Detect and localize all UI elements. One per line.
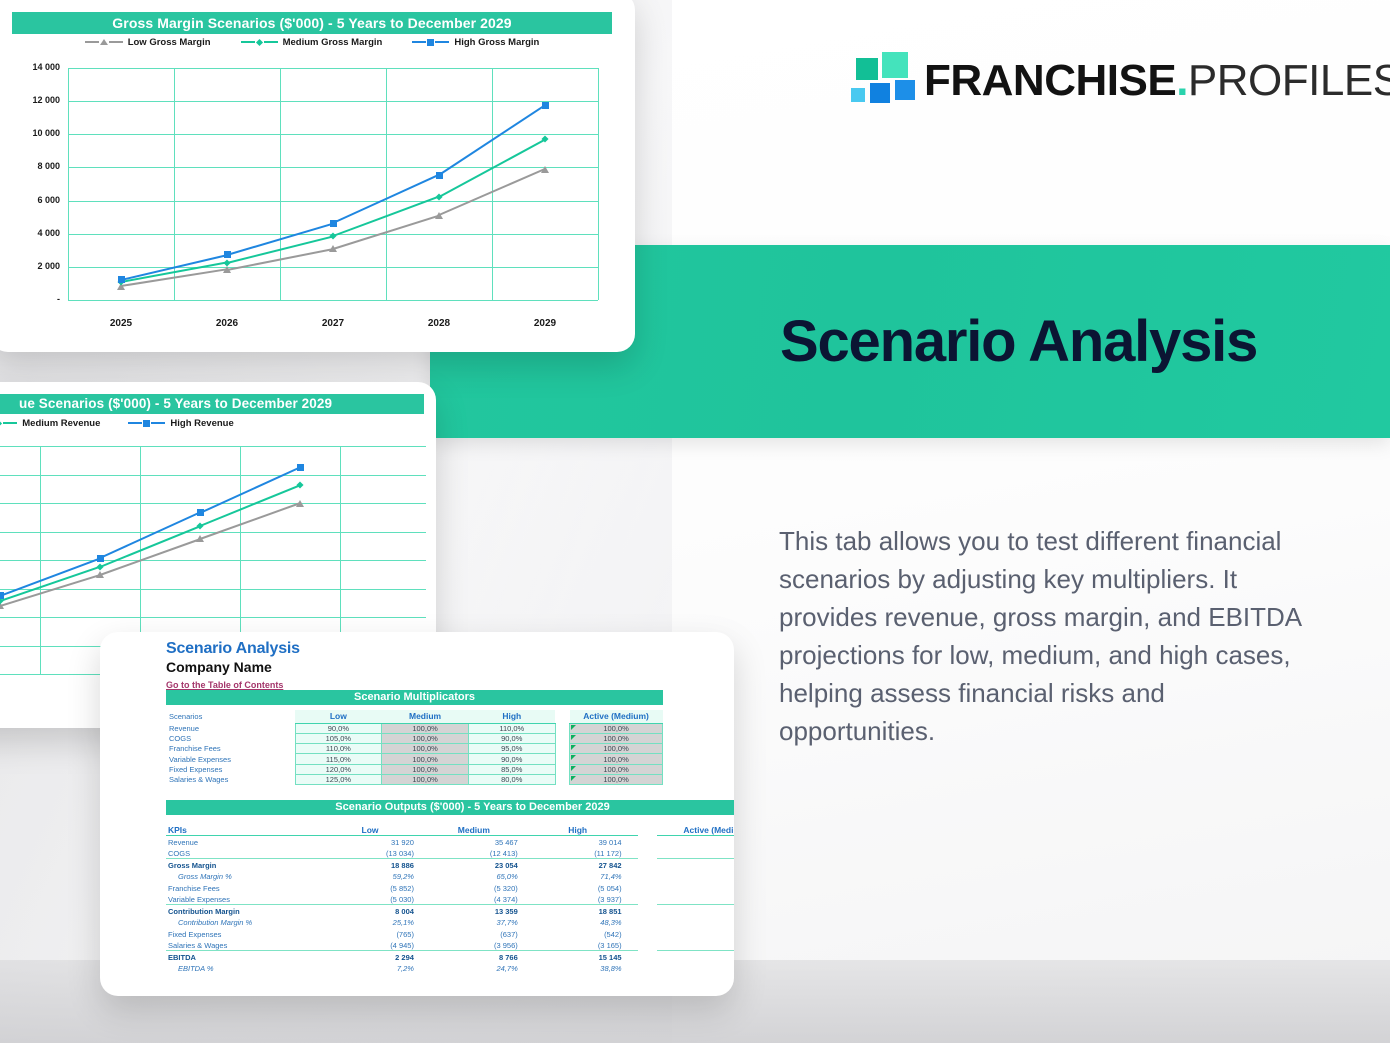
output-cell-high: (5 054): [534, 881, 638, 893]
x-axis-tick-label: 2026: [174, 318, 280, 329]
square-marker-icon: [427, 39, 434, 46]
column-header-high: High: [534, 822, 638, 835]
table-row: Franchise Fees110,0%100,0%95,0%100,0%: [166, 744, 663, 754]
column-gap: [555, 723, 569, 733]
output-cell-medium: (5 320): [430, 881, 534, 893]
gridline-horizontal: [0, 446, 426, 447]
multiplicator-cell-high[interactable]: 90,0%: [468, 733, 555, 743]
kpi-label: Contribution Margin %: [166, 916, 326, 928]
triangle-marker-icon: [435, 212, 443, 219]
output-cell-low: 31 920: [326, 835, 430, 847]
sheet-header: Scenario Analysis Company Name Go to the…: [166, 640, 300, 693]
square-marker-icon: [197, 509, 204, 516]
output-cell-active: 8 766: [657, 950, 734, 962]
legend-item-medium-revenue: Medium Revenue: [0, 418, 100, 429]
column-header-low: Low: [295, 710, 382, 723]
y-axis-tick-label: 4 000: [0, 228, 60, 238]
scenario-outputs-band: Scenario Outputs ($'000) - 5 Years to De…: [166, 800, 734, 815]
legend-line-icon: [435, 41, 449, 43]
page-title: Scenario Analysis: [780, 308, 1257, 375]
table-row: Gross Margin %59,2%65,0%71,4%65,0%: [166, 870, 734, 882]
column-gap: [638, 904, 658, 916]
gridline-horizontal: [0, 560, 426, 561]
gridline-vertical: [280, 68, 281, 300]
output-cell-medium: (3 956): [430, 939, 534, 951]
square-marker-icon: [118, 276, 125, 283]
column-gap: [555, 733, 569, 743]
output-cell-low: (765): [326, 927, 430, 939]
logo-word-secondary: PROFILES: [1188, 56, 1390, 105]
output-cell-high: 39 014: [534, 835, 638, 847]
legend-item-high-gross-margin: High Gross Margin: [412, 37, 539, 48]
y-axis-tick-label: 10 000: [0, 128, 60, 138]
output-cell-high: 38,8%: [534, 962, 638, 974]
multiplicator-cell-low[interactable]: 105,0%: [295, 733, 382, 743]
column-gap: [555, 754, 569, 764]
scenario-multiplicators-table: ScenariosLowMediumHighActive (Medium)Rev…: [166, 710, 663, 785]
kpi-label: Gross Margin: [166, 858, 326, 870]
table-row: Contribution Margin %25,1%37,7%48,3%37,7…: [166, 916, 734, 928]
row-label: Salaries & Wages: [166, 774, 295, 784]
legend-line-icon: [264, 41, 278, 43]
triangle-marker-icon: [329, 245, 337, 252]
diamond-marker-icon: [296, 482, 303, 489]
scenarios-row-header: Scenarios: [166, 710, 295, 723]
column-header-medium: Medium: [430, 822, 534, 835]
kpi-label: Fixed Expenses: [166, 927, 326, 939]
gross-margin-chart-legend: Low Gross Margin Medium Gross Margin Hig…: [12, 32, 612, 52]
square-marker-icon: [0, 592, 4, 599]
multiplicator-cell-active[interactable]: 100,0%: [570, 754, 663, 764]
table-row: COGS105,0%100,0%90,0%100,0%: [166, 733, 663, 743]
output-cell-low: 18 886: [326, 858, 430, 870]
column-header-medium: Medium: [382, 710, 469, 723]
legend-line-icon: [151, 422, 165, 424]
output-cell-low: (5 030): [326, 893, 430, 905]
multiplicator-cell-high[interactable]: 110,0%: [468, 723, 555, 733]
multiplicator-cell-low[interactable]: 120,0%: [295, 764, 382, 774]
logo-squares-icon: [848, 52, 906, 110]
x-axis-tick-label: 2027: [280, 318, 386, 329]
gridline-horizontal: [0, 503, 426, 504]
legend-line-icon: [128, 422, 142, 424]
multiplicator-cell-high[interactable]: 90,0%: [468, 754, 555, 764]
triangle-marker-icon: [196, 535, 204, 542]
row-label: Fixed Expenses: [166, 764, 295, 774]
output-cell-medium: 37,7%: [430, 916, 534, 928]
kpi-label: Salaries & Wages: [166, 939, 326, 951]
table-row: EBITDA2 2948 76615 1458 766: [166, 950, 734, 962]
column-gap: [638, 870, 658, 882]
kpi-label: Contribution Margin: [166, 904, 326, 916]
gross-margin-chart-title: Gross Margin Scenarios ($'000) - 5 Years…: [12, 12, 612, 34]
output-cell-active: 13 359: [657, 904, 734, 916]
output-cell-active: (3 956): [657, 939, 734, 951]
y-axis-tick-label: 8 000: [0, 161, 60, 171]
output-cell-medium: (12 413): [430, 847, 534, 859]
series-line-segment: [0, 566, 100, 602]
multiplicator-cell-low[interactable]: 125,0%: [295, 774, 382, 784]
output-cell-active: 35 467: [657, 835, 734, 847]
output-cell-active: 23 054: [657, 858, 734, 870]
output-cell-low: 8 004: [326, 904, 430, 916]
column-gap: [638, 835, 658, 847]
output-cell-medium: 8 766: [430, 950, 534, 962]
gridline-horizontal: [68, 267, 598, 268]
square-marker-icon: [330, 220, 337, 227]
gross-margin-chart-card: Gross Margin Scenarios ($'000) - 5 Years…: [0, 0, 635, 352]
column-gap: [638, 847, 658, 859]
multiplicator-cell-medium[interactable]: 100,0%: [382, 733, 469, 743]
y-axis-tick-label: -: [0, 294, 60, 304]
output-cell-active: (5 320): [657, 881, 734, 893]
legend-label: Medium Revenue: [22, 418, 100, 429]
legend-item-low-gross-margin: Low Gross Margin: [85, 37, 211, 48]
column-gap: [638, 939, 658, 951]
multiplicator-cell-high[interactable]: 80,0%: [468, 774, 555, 784]
x-axis-tick-label: 2025: [68, 318, 174, 329]
multiplicator-cell-high[interactable]: 95,0%: [468, 744, 555, 754]
output-cell-active: 37,7%: [657, 916, 734, 928]
kpi-label: Variable Expenses: [166, 893, 326, 905]
output-cell-high: 18 851: [534, 904, 638, 916]
triangle-marker-icon: [223, 266, 231, 273]
output-cell-high: (11 172): [534, 847, 638, 859]
table-row: Franchise Fees(5 852)(5 320)(5 054)(5 32…: [166, 881, 734, 893]
row-label: Revenue: [166, 723, 295, 733]
gridline-horizontal: [68, 300, 598, 301]
scenario-analysis-sheet-card: Scenario Analysis Company Name Go to the…: [100, 632, 734, 996]
row-label: Variable Expenses: [166, 754, 295, 764]
output-cell-medium: (637): [430, 927, 534, 939]
output-cell-low: 7,2%: [326, 962, 430, 974]
gridline-horizontal: [68, 101, 598, 102]
table-row: EBITDA %7,2%24,7%38,8%24,7%: [166, 962, 734, 974]
multiplicator-cell-medium[interactable]: 100,0%: [382, 744, 469, 754]
kpi-label: Gross Margin %: [166, 870, 326, 882]
multiplicator-cell-medium[interactable]: 100,0%: [382, 723, 469, 733]
table-header-row: ScenariosLowMediumHighActive (Medium): [166, 710, 663, 723]
column-gap: [638, 893, 658, 905]
multiplicator-cell-active[interactable]: 100,0%: [570, 774, 663, 784]
column-gap: [638, 927, 658, 939]
kpis-row-header: KPIs: [166, 822, 326, 835]
comment-flag-icon: [571, 776, 576, 781]
column-header-active: Active (Medium): [657, 822, 734, 835]
revenue-chart-title: ue Scenarios ($'000) - 5 Years to Decemb…: [0, 394, 424, 414]
column-gap: [555, 774, 569, 784]
brand-logo: FRANCHISE.PROFILES: [848, 50, 1390, 112]
table-of-contents-link[interactable]: Go to the Table of Contents: [166, 680, 283, 690]
legend-item-high-revenue: High Revenue: [128, 418, 233, 429]
kpi-label: COGS: [166, 847, 326, 859]
multiplicator-cell-active[interactable]: 100,0%: [570, 723, 663, 733]
gridline-horizontal: [68, 201, 598, 202]
table-header-row: KPIsLowMediumHighActive (Medium): [166, 822, 734, 835]
column-header-active: Active (Medium): [570, 710, 663, 723]
gridline-horizontal: [0, 589, 426, 590]
output-cell-low: 59,2%: [326, 870, 430, 882]
output-cell-active: 24,7%: [657, 962, 734, 974]
output-cell-medium: 35 467: [430, 835, 534, 847]
logo-word-primary: FRANCHISE: [924, 56, 1176, 105]
legend-item-medium-gross-margin: Medium Gross Margin: [241, 37, 383, 48]
multiplicator-cell-medium[interactable]: 100,0%: [382, 754, 469, 764]
output-cell-high: 71,4%: [534, 870, 638, 882]
column-header-high: High: [468, 710, 555, 723]
square-marker-icon: [542, 102, 549, 109]
output-cell-low: (4 945): [326, 939, 430, 951]
table-row: Variable Expenses115,0%100,0%90,0%100,0%: [166, 754, 663, 764]
legend-label: Low Gross Margin: [128, 37, 211, 48]
square-marker-icon: [224, 251, 231, 258]
column-gap: [638, 858, 658, 870]
scenario-outputs-table: KPIsLowMediumHighActive (Medium)Revenue3…: [166, 822, 734, 973]
triangle-marker-icon: [96, 571, 104, 578]
scenario-multiplicators-band: Scenario Multiplicators: [166, 690, 663, 705]
gridline-vertical: [598, 68, 599, 300]
gridline-vertical: [68, 68, 69, 300]
kpi-label: Franchise Fees: [166, 881, 326, 893]
legend-label: Medium Gross Margin: [283, 37, 383, 48]
legend-label: High Gross Margin: [454, 37, 539, 48]
y-axis-tick-label: 14 000: [0, 62, 60, 72]
legend-line-icon: [241, 41, 255, 43]
gridline-horizontal: [68, 68, 598, 69]
table-row: Fixed Expenses120,0%100,0%85,0%100,0%: [166, 764, 663, 774]
output-cell-low: 25,1%: [326, 916, 430, 928]
output-cell-low: 2 294: [326, 950, 430, 962]
y-axis-tick-label: 2 000: [0, 261, 60, 271]
column-header-low: Low: [326, 822, 430, 835]
y-axis-tick-label: 6 000: [0, 195, 60, 205]
gridline-horizontal: [68, 167, 598, 168]
revenue-chart-legend: Low Revenue Medium Revenue High Revenue: [0, 414, 348, 432]
gridline-horizontal: [68, 134, 598, 135]
x-axis-tick-label: 2028: [386, 318, 492, 329]
output-cell-active: (12 413): [657, 847, 734, 859]
multiplicator-cell-low[interactable]: 90,0%: [295, 723, 382, 733]
square-marker-icon: [143, 420, 150, 427]
table-row: Fixed Expenses(765)(637)(542)(637): [166, 927, 734, 939]
triangle-marker-icon: [541, 166, 549, 173]
table-row: COGS(13 034)(12 413)(11 172)(12 413): [166, 847, 734, 859]
output-cell-active: (4 374): [657, 893, 734, 905]
output-cell-medium: 65,0%: [430, 870, 534, 882]
square-marker-icon: [97, 555, 104, 562]
multiplicator-cell-low[interactable]: 115,0%: [295, 754, 382, 764]
comment-flag-icon: [571, 735, 576, 740]
table-row: Salaries & Wages(4 945)(3 956)(3 165)(3 …: [166, 939, 734, 951]
table-row: Variable Expenses(5 030)(4 374)(3 937)(4…: [166, 893, 734, 905]
tab-description: This tab allows you to test different fi…: [779, 522, 1327, 750]
gridline-vertical: [492, 68, 493, 300]
kpi-label: EBITDA: [166, 950, 326, 962]
output-cell-high: (542): [534, 927, 638, 939]
output-cell-high: 48,3%: [534, 916, 638, 928]
output-cell-medium: (4 374): [430, 893, 534, 905]
legend-line-icon: [412, 41, 426, 43]
output-cell-medium: 13 359: [430, 904, 534, 916]
multiplicator-cell-active[interactable]: 100,0%: [570, 733, 663, 743]
output-cell-high: (3 937): [534, 893, 638, 905]
x-axis-tick-label: 2029: [492, 318, 598, 329]
table-row: Contribution Margin8 00413 35918 85113 3…: [166, 904, 734, 916]
legend-line-icon: [85, 41, 99, 43]
comment-flag-icon: [571, 766, 576, 771]
multiplicator-cell-high[interactable]: 85,0%: [468, 764, 555, 774]
column-gap: [638, 950, 658, 962]
column-gap: [638, 962, 658, 974]
table-row: Gross Margin18 88623 05427 84223 054: [166, 858, 734, 870]
gridline-horizontal: [0, 617, 426, 618]
gross-margin-plot-area: -2 0004 0006 0008 00010 00012 00014 0002…: [68, 68, 598, 300]
diamond-marker-icon: [256, 38, 263, 45]
gridline-vertical: [40, 446, 41, 674]
kpi-label: Revenue: [166, 835, 326, 847]
output-cell-active: (637): [657, 927, 734, 939]
company-name: Company Name: [166, 659, 300, 675]
gridline-horizontal: [0, 475, 426, 476]
column-gap: [638, 916, 658, 928]
comment-flag-icon: [571, 745, 576, 750]
diamond-marker-icon: [0, 419, 2, 426]
output-cell-high: (3 165): [534, 939, 638, 951]
multiplicator-cell-active[interactable]: 100,0%: [570, 764, 663, 774]
sheet-title: Scenario Analysis: [166, 640, 300, 658]
output-cell-medium: 24,7%: [430, 962, 534, 974]
comment-flag-icon: [571, 755, 576, 760]
triangle-marker-icon: [100, 39, 108, 45]
series-line-segment: [100, 512, 201, 559]
table-row: Salaries & Wages125,0%100,0%80,0%100,0%: [166, 774, 663, 784]
square-marker-icon: [436, 172, 443, 179]
table-row: Revenue31 92035 46739 01435 467: [166, 835, 734, 847]
multiplicator-cell-medium[interactable]: 100,0%: [382, 764, 469, 774]
multiplicator-cell-medium[interactable]: 100,0%: [382, 774, 469, 784]
y-axis-tick-label: 12 000: [0, 95, 60, 105]
legend-line-icon: [3, 422, 17, 424]
column-gap: [555, 744, 569, 754]
column-gap: [638, 881, 658, 893]
legend-label: High Revenue: [170, 418, 233, 429]
output-cell-active: 65,0%: [657, 870, 734, 882]
gridline-vertical: [386, 68, 387, 300]
square-marker-icon: [297, 464, 304, 471]
column-gap: [555, 710, 569, 723]
row-label: COGS: [166, 733, 295, 743]
output-cell-high: 15 145: [534, 950, 638, 962]
multiplicator-cell-active[interactable]: 100,0%: [570, 744, 663, 754]
multiplicator-cell-low[interactable]: 110,0%: [295, 744, 382, 754]
comment-flag-icon: [571, 725, 576, 730]
logo-word-dot: .: [1176, 56, 1188, 105]
output-cell-medium: 23 054: [430, 858, 534, 870]
logo-wordmark: FRANCHISE.PROFILES: [924, 56, 1390, 106]
row-label: Franchise Fees: [166, 744, 295, 754]
series-line-segment: [100, 538, 201, 576]
output-cell-high: 27 842: [534, 858, 638, 870]
table-row: Revenue90,0%100,0%110,0%100,0%: [166, 723, 663, 733]
kpi-label: EBITDA %: [166, 962, 326, 974]
column-gap: [638, 822, 658, 835]
output-cell-low: (13 034): [326, 847, 430, 859]
legend-line-icon: [109, 41, 123, 43]
triangle-marker-icon: [296, 500, 304, 507]
output-cell-low: (5 852): [326, 881, 430, 893]
column-gap: [555, 764, 569, 774]
